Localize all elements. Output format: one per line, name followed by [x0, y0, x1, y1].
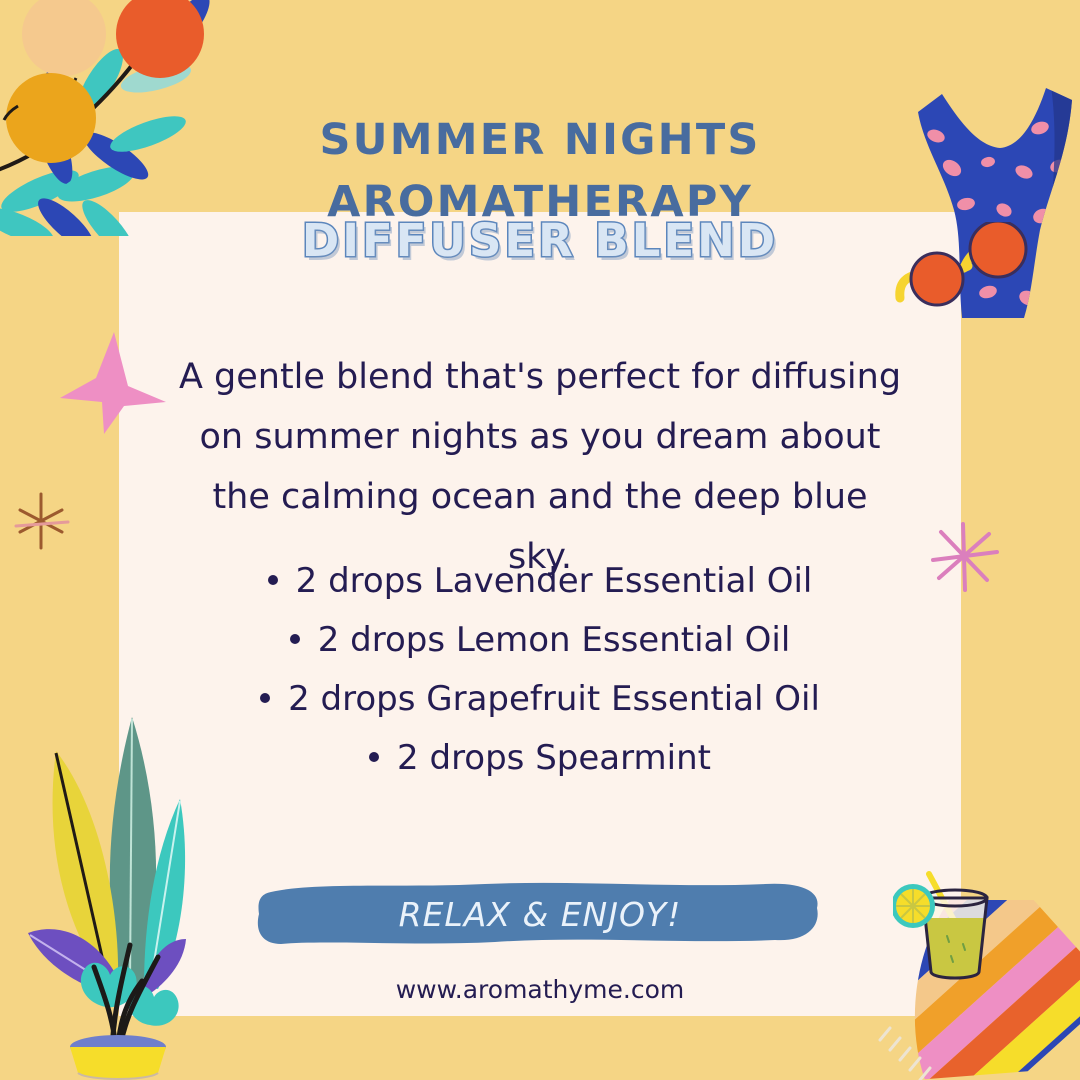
lemonade-glass-icon: [893, 860, 1003, 994]
subtitle-container: DIFFUSER BLEND: [0, 214, 1080, 267]
description-text: A gentle blend that's perfect for diffus…: [175, 347, 905, 587]
website-url[interactable]: www.aromathyme.com: [0, 975, 1080, 1004]
cta-label: RELAX & ENJOY!: [255, 878, 825, 950]
bullet-icon: [260, 693, 270, 703]
ingredient-label: 2 drops Lemon Essential Oil: [318, 620, 791, 660]
bullet-icon: [369, 752, 379, 762]
bullet-icon: [290, 634, 300, 644]
ingredient-label: 2 drops Grapefruit Essential Oil: [288, 679, 820, 719]
list-item: 2 drops Grapefruit Essential Oil: [175, 670, 905, 729]
pink-sparkle-icon: [925, 518, 1005, 600]
list-item: 2 drops Lavender Essential Oil: [175, 552, 905, 611]
cta-button[interactable]: RELAX & ENJOY!: [255, 878, 825, 950]
subtitle: DIFFUSER BLEND: [302, 214, 778, 267]
ingredient-label: 2 drops Spearmint: [397, 738, 711, 778]
list-item: 2 drops Lemon Essential Oil: [175, 611, 905, 670]
pink-star-icon: [58, 330, 168, 439]
page-title-line1: SUMMER NIGHTS: [319, 115, 760, 165]
bullet-icon: [268, 575, 278, 585]
poster-canvas: SUMMER NIGHTS AROMATHERAPY DIFFUSER BLEN…: [0, 0, 1080, 1080]
ingredient-list: 2 drops Lavender Essential Oil 2 drops L…: [175, 552, 905, 788]
list-item: 2 drops Spearmint: [175, 729, 905, 788]
ingredient-label: 2 drops Lavender Essential Oil: [296, 561, 813, 601]
brown-sparkle-icon: [10, 490, 72, 556]
